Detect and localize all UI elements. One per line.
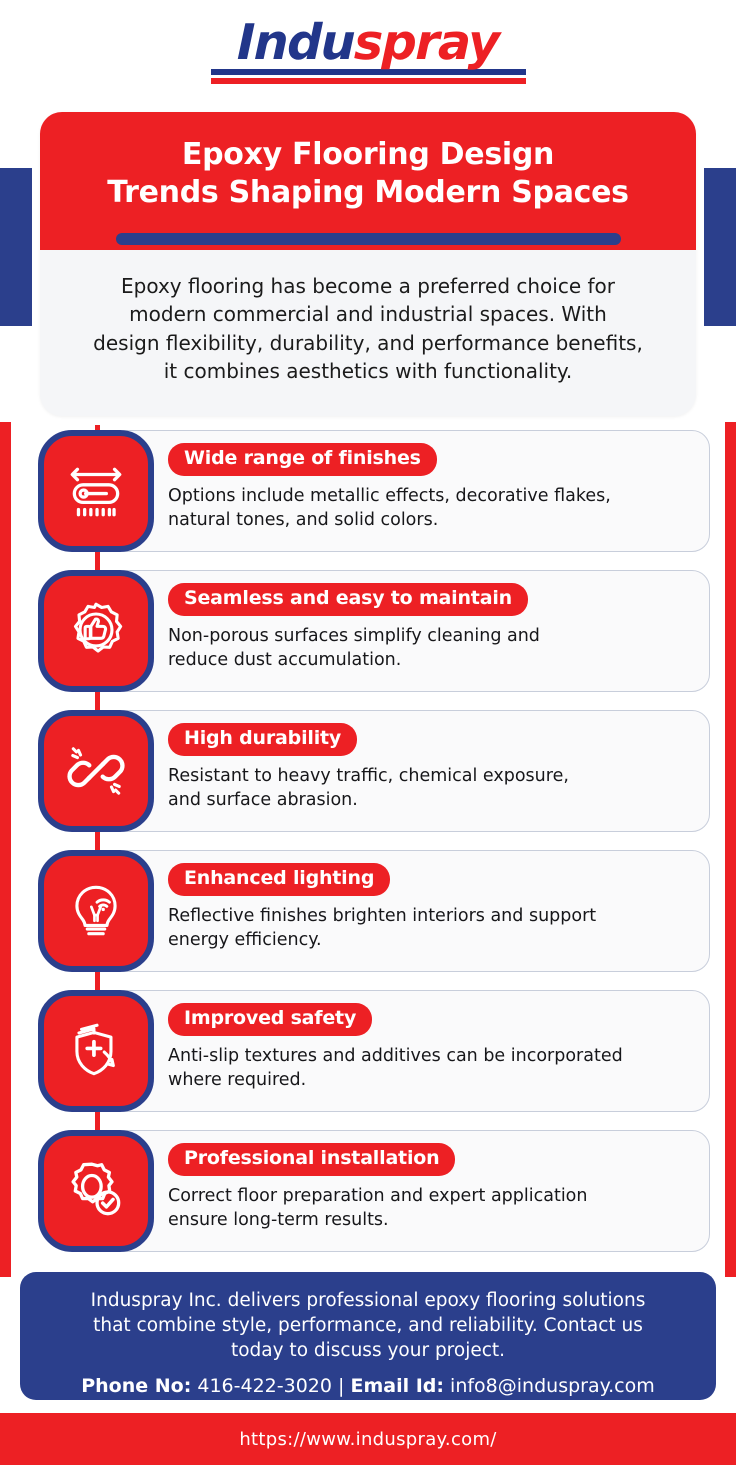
feature-icon-badge — [38, 430, 154, 552]
logo-bar-red — [211, 78, 526, 84]
gear-thumbs-up-icon — [63, 598, 129, 664]
feature-icon-badge — [38, 710, 154, 832]
feature-title: High durability — [168, 723, 357, 756]
list-item: High durability Resistant to heavy traff… — [0, 705, 736, 845]
website-url[interactable]: https://www.induspray.com/ — [239, 1429, 496, 1450]
header-body: Epoxy flooring has become a preferred ch… — [40, 250, 696, 416]
feature-content: Professional installation Correct floor … — [154, 1130, 710, 1252]
feature-title: Seamless and easy to maintain — [168, 583, 528, 616]
chain-link-icon — [63, 738, 129, 804]
brand-logo: Induspray — [0, 18, 736, 84]
feature-description: Anti-slip textures and additives can be … — [168, 1045, 710, 1092]
feature-content: Seamless and easy to maintain Non-porous… — [154, 570, 710, 692]
feature-title: Professional installation — [168, 1143, 455, 1176]
email-value[interactable]: info8@induspray.com — [450, 1375, 655, 1397]
infographic-page: Induspray Epoxy Flooring Design Trends S… — [0, 0, 736, 1465]
list-item: Professional installation Correct floor … — [0, 1125, 736, 1265]
feature-content: Improved safety Anti-slip textures and a… — [154, 990, 710, 1112]
intro-paragraph: Epoxy flooring has become a preferred ch… — [64, 272, 672, 386]
logo-wordmark: Induspray — [237, 18, 499, 67]
contact-separator: | — [338, 1375, 344, 1397]
shield-plus-arrow-icon — [63, 1018, 129, 1084]
gear-check-icon — [63, 1158, 129, 1224]
header-banner: Epoxy Flooring Design Trends Shaping Mod… — [40, 112, 696, 233]
feature-title: Improved safety — [168, 1003, 372, 1036]
header-underline-bar — [116, 233, 621, 245]
feature-description: Reflective finishes brighten interiors a… — [168, 905, 710, 952]
feature-title: Enhanced lighting — [168, 863, 390, 896]
feature-icon-badge — [38, 990, 154, 1112]
phone-value[interactable]: 416-422-3020 — [197, 1375, 332, 1397]
list-item: Improved safety Anti-slip textures and a… — [0, 985, 736, 1125]
logo-text-spray: spray — [354, 14, 499, 71]
email-label: Email Id: — [350, 1375, 444, 1397]
feature-description: Correct floor preparation and expert app… — [168, 1185, 710, 1232]
feature-icon-badge — [38, 570, 154, 692]
footer-panel: Induspray Inc. delivers professional epo… — [20, 1272, 716, 1400]
header-card: Epoxy Flooring Design Trends Shaping Mod… — [40, 112, 696, 416]
phone-label: Phone No: — [81, 1375, 191, 1397]
header-underline-row — [40, 233, 696, 250]
feature-description: Non-porous surfaces simplify cleaning an… — [168, 625, 710, 672]
paint-roller-width-icon — [63, 458, 129, 524]
website-url-bar[interactable]: https://www.induspray.com/ — [0, 1413, 736, 1465]
feature-list: Wide range of finishes Options include m… — [0, 425, 736, 1265]
decor-block-left — [0, 168, 32, 326]
feature-title: Wide range of finishes — [168, 443, 437, 476]
list-item: Seamless and easy to maintain Non-porous… — [0, 565, 736, 705]
feature-icon-badge — [38, 1130, 154, 1252]
page-title: Epoxy Flooring Design Trends Shaping Mod… — [66, 136, 670, 211]
footer-contact-line: Phone No: 416-422-3020 | Email Id: info8… — [44, 1375, 692, 1397]
logo-underline-bars — [211, 69, 526, 84]
feature-icon-badge — [38, 850, 154, 972]
lightbulb-signal-icon — [63, 878, 129, 944]
list-item: Enhanced lighting Reflective finishes br… — [0, 845, 736, 985]
decor-block-right — [704, 168, 736, 326]
feature-content: Enhanced lighting Reflective finishes br… — [154, 850, 710, 972]
footer-description: Induspray Inc. delivers professional epo… — [44, 1289, 692, 1364]
feature-content: High durability Resistant to heavy traff… — [154, 710, 710, 832]
feature-description: Options include metallic effects, decora… — [168, 485, 710, 532]
list-item: Wide range of finishes Options include m… — [0, 425, 736, 565]
feature-description: Resistant to heavy traffic, chemical exp… — [168, 765, 710, 812]
logo-text-indu: Indu — [237, 14, 355, 71]
feature-content: Wide range of finishes Options include m… — [154, 430, 710, 552]
